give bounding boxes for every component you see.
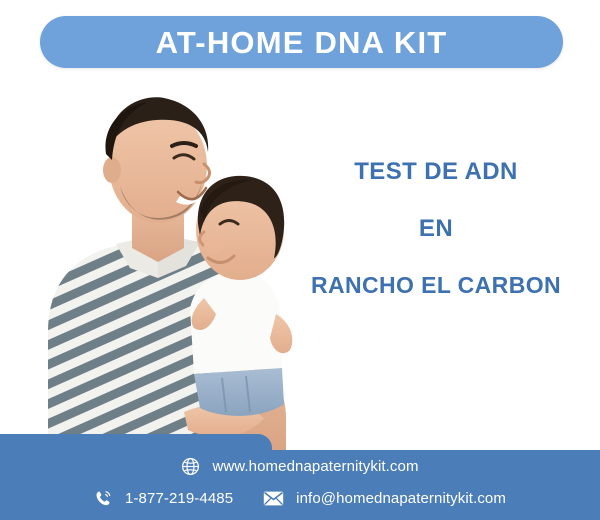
headline-line-3: RANCHO EL CARBON [300, 274, 572, 297]
globe-icon [181, 457, 200, 476]
headline-block: TEST DE ADN EN RANCHO EL CARBON [300, 160, 572, 297]
footer-row-website: www.homednapaternitykit.com [0, 450, 600, 482]
header-banner: AT-HOME DNA KIT [40, 16, 563, 68]
footer-website[interactable]: www.homednapaternitykit.com [181, 457, 418, 476]
headline-line-2: EN [300, 217, 572, 241]
footer-row-phone-email: 1-877-219-4485 info@homednapaternitykit.… [0, 482, 600, 514]
headline-line-1: TEST DE ADN [300, 160, 572, 184]
footer-website-label: www.homednapaternitykit.com [212, 459, 418, 474]
footer-contact-info: www.homednapaternitykit.com 1-877-219-44… [0, 450, 600, 520]
footer-email-label: info@homednapaternitykit.com [296, 491, 506, 506]
banner-title: AT-HOME DNA KIT [156, 27, 448, 58]
footer-phone[interactable]: 1-877-219-4485 [94, 489, 233, 508]
poster-root: AT-HOME DNA KIT [0, 0, 600, 520]
envelope-icon [263, 490, 284, 507]
phone-icon [94, 489, 113, 508]
family-photo [8, 82, 318, 450]
footer-phone-label: 1-877-219-4485 [125, 491, 233, 506]
footer-email[interactable]: info@homednapaternitykit.com [263, 490, 506, 507]
